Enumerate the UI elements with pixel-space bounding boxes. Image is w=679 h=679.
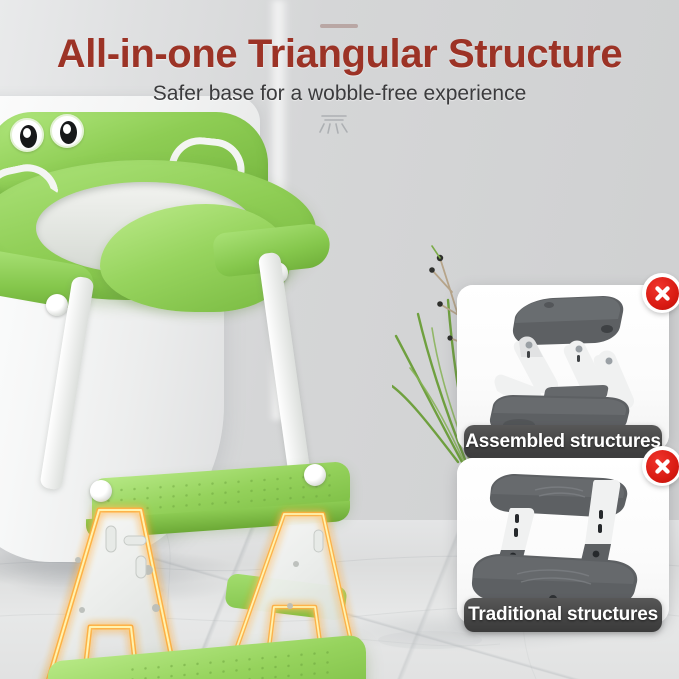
page-subtitle: Safer base for a wobble-free experience <box>0 82 679 106</box>
inset-label-traditional: Traditional structures <box>464 598 662 632</box>
product-marketing-scene: All-in-one Triangular Structure Safer ba… <box>0 0 679 679</box>
ladder-rail-right <box>258 252 313 489</box>
red-x-badge-traditional <box>642 446 679 486</box>
x-icon <box>646 450 679 483</box>
step-screw-left <box>90 480 112 502</box>
red-x-badge-assembled <box>642 273 679 313</box>
frog-eye-right-icon <box>50 114 84 148</box>
x-icon <box>646 277 679 310</box>
step-screw-right <box>304 464 326 486</box>
pivot-screw-left <box>46 294 68 316</box>
base-antislip-tread <box>126 647 338 679</box>
page-title: All-in-one Triangular Structure <box>0 32 679 77</box>
product-potty-training-ladder-seat <box>0 108 394 638</box>
inset-label-assembled: Assembled structures <box>464 425 662 459</box>
comparison-inset-assembled[interactable]: Assembled structures <box>457 285 669 451</box>
comparison-inset-traditional[interactable]: Traditional structures <box>457 458 669 624</box>
top-divider-rule <box>320 24 358 28</box>
frog-eye-left-icon <box>10 118 44 152</box>
